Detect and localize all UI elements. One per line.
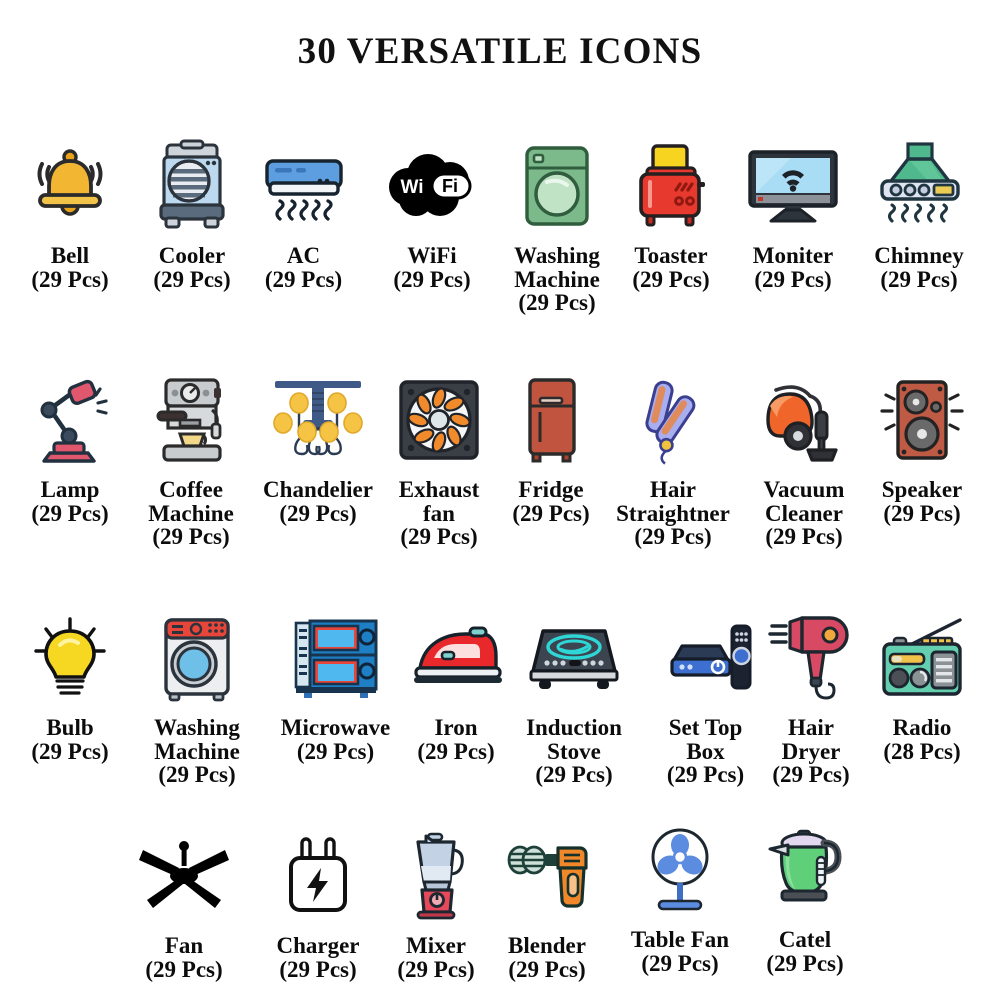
blender-icon — [504, 828, 590, 924]
icon-cell-speaker[interactable]: Speaker (29 Pcs) — [862, 372, 982, 525]
icon-cell-washing-machine-2[interactable]: Washing Machine (29 Pcs) — [135, 610, 259, 787]
icon-cell-iron[interactable]: Iron (29 Pcs) — [400, 610, 512, 763]
ceiling-fan-icon — [137, 828, 231, 924]
icon-count: (29 Pcs) — [535, 763, 612, 787]
icon-cell-radio[interactable]: Radio (28 Pcs) — [862, 610, 982, 763]
icon-count: (29 Pcs) — [393, 268, 470, 292]
icon-cell-set-top-box[interactable]: Set Top Box (29 Pcs) — [648, 610, 763, 787]
icon-label: Moniter — [753, 244, 833, 268]
coffee-machine-icon — [150, 372, 232, 468]
icon-count: (29 Pcs) — [634, 525, 711, 549]
icon-cell-hair-dryer[interactable]: Hair Dryer (29 Pcs) — [757, 610, 865, 787]
icon-count: (29 Pcs) — [754, 268, 831, 292]
icon-label: AC — [287, 244, 320, 268]
icon-cell-chandelier[interactable]: Chandelier (29 Pcs) — [249, 372, 387, 525]
svg-text:Fi: Fi — [442, 176, 458, 196]
icon-count: (29 Pcs) — [152, 525, 229, 549]
icon-label: Set Top Box — [669, 716, 743, 763]
icon-count: (29 Pcs) — [880, 268, 957, 292]
icon-count: (29 Pcs) — [512, 502, 589, 526]
icon-label: Lamp — [41, 478, 100, 502]
exhaust-fan-icon — [396, 372, 482, 468]
icon-label: Bell — [51, 244, 89, 268]
icon-count: (29 Pcs) — [145, 958, 222, 982]
icon-label: Bulb — [46, 716, 93, 740]
icon-count: (29 Pcs) — [772, 763, 849, 787]
monitor-icon — [745, 138, 841, 234]
icon-label: Exhaust fan — [399, 478, 480, 525]
icon-cell-lamp[interactable]: Lamp (29 Pcs) — [10, 372, 130, 525]
icon-count: (29 Pcs) — [641, 952, 718, 976]
icon-label: Microwave — [281, 716, 390, 740]
icon-label: Speaker — [882, 478, 963, 502]
chandelier-icon — [269, 372, 367, 468]
svg-text:Wi: Wi — [400, 177, 423, 198]
cooler-icon — [153, 138, 231, 234]
icon-cell-charger[interactable]: Charger (29 Pcs) — [258, 828, 378, 981]
icon-cell-coffee-machine[interactable]: Coffee Machine (29 Pcs) — [130, 372, 252, 549]
icon-label: Cooler — [159, 244, 225, 268]
icon-cell-bulb[interactable]: Bulb (29 Pcs) — [10, 610, 130, 763]
kettle-icon — [762, 822, 848, 918]
icon-label: Vacuum Cleaner — [764, 478, 845, 525]
icon-cell-cooler[interactable]: Cooler (29 Pcs) — [132, 138, 252, 291]
icon-label: Coffee Machine — [148, 478, 234, 525]
charger-icon — [283, 828, 353, 924]
icon-label: Mixer — [406, 934, 466, 958]
speaker-icon — [878, 372, 966, 468]
icon-cell-blender[interactable]: Blender (29 Pcs) — [488, 828, 606, 981]
icon-cell-exhaust-fan[interactable]: Exhaust fan (29 Pcs) — [383, 372, 495, 549]
washing-machine-white-icon — [156, 610, 238, 706]
icon-cell-microwave[interactable]: Microwave (29 Pcs) — [263, 610, 408, 763]
icon-cell-chimney[interactable]: Chimney (29 Pcs) — [857, 138, 981, 291]
icon-cell-fan[interactable]: Fan (29 Pcs) — [125, 828, 243, 981]
icon-cell-bell[interactable]: Bell (29 Pcs) — [10, 138, 130, 291]
icon-label: Toaster — [634, 244, 707, 268]
icon-count: (29 Pcs) — [765, 525, 842, 549]
icon-count: (29 Pcs) — [632, 268, 709, 292]
icon-cell-table-fan[interactable]: Table Fan (29 Pcs) — [614, 822, 746, 975]
desk-lamp-icon — [28, 372, 112, 468]
icon-label: Washing Machine — [514, 244, 600, 291]
fridge-icon — [522, 372, 580, 468]
icon-label: Washing Machine — [154, 716, 240, 763]
icon-count: (29 Pcs) — [397, 958, 474, 982]
icon-count: (29 Pcs) — [279, 502, 356, 526]
icon-cell-fridge[interactable]: Fridge (29 Pcs) — [497, 372, 605, 525]
icon-count: (29 Pcs) — [31, 268, 108, 292]
icon-count: (29 Pcs) — [297, 740, 374, 764]
icon-label: WiFi — [407, 244, 456, 268]
icon-count: (28 Pcs) — [883, 740, 960, 764]
icon-cell-moniter[interactable]: Moniter (29 Pcs) — [733, 138, 853, 291]
iron-icon — [410, 610, 502, 706]
icon-count: (29 Pcs) — [518, 291, 595, 315]
icon-cell-hair-straightner[interactable]: Hair Straightner (29 Pcs) — [598, 372, 748, 549]
icon-label: Induction Stove — [526, 716, 622, 763]
icon-cell-catel[interactable]: Catel (29 Pcs) — [748, 822, 862, 975]
icon-label: Chandelier — [263, 478, 373, 502]
icon-cell-toaster[interactable]: Toaster (29 Pcs) — [616, 138, 726, 291]
wifi-icon: Wi Fi — [384, 138, 480, 234]
icon-count: (29 Pcs) — [667, 763, 744, 787]
icon-label: Radio — [893, 716, 952, 740]
icon-label: Fan — [165, 934, 203, 958]
hair-straightener-icon — [627, 372, 719, 468]
icon-label: Iron — [434, 716, 477, 740]
icon-label: Table Fan — [631, 928, 729, 952]
icon-count: (29 Pcs) — [279, 958, 356, 982]
icon-count: (29 Pcs) — [766, 952, 843, 976]
vacuum-cleaner-icon — [758, 372, 850, 468]
icon-count: (29 Pcs) — [158, 763, 235, 787]
icon-label: Hair Dryer — [782, 716, 841, 763]
mixer-icon — [404, 828, 468, 924]
microwave-icon — [290, 610, 382, 706]
set-top-box-icon — [660, 610, 752, 706]
washing-machine-green-icon — [519, 138, 595, 234]
icon-grid: Bell (29 Pcs) Cooler (29 Pcs) — [0, 0, 1000, 1000]
icon-count: (29 Pcs) — [265, 268, 342, 292]
icon-cell-wifi[interactable]: Wi Fi WiFi (29 Pcs) — [374, 138, 490, 291]
icon-count: (29 Pcs) — [31, 502, 108, 526]
icon-label: Catel — [779, 928, 831, 952]
icon-cell-washing-machine-1[interactable]: Washing Machine (29 Pcs) — [497, 138, 617, 315]
icon-count: (29 Pcs) — [417, 740, 494, 764]
table-fan-icon — [642, 822, 718, 918]
icon-label: Chimney — [874, 244, 963, 268]
hair-dryer-icon — [768, 610, 854, 706]
icon-cell-induction-stove[interactable]: Induction Stove (29 Pcs) — [508, 610, 640, 787]
icon-count: (29 Pcs) — [883, 502, 960, 526]
icon-count: (29 Pcs) — [508, 958, 585, 982]
bell-icon — [26, 138, 114, 234]
bulb-icon — [30, 610, 110, 706]
icon-count: (29 Pcs) — [400, 525, 477, 549]
icon-label: Blender — [508, 934, 586, 958]
icon-label: Fridge — [518, 478, 583, 502]
induction-stove-icon — [527, 610, 621, 706]
icon-cell-mixer[interactable]: Mixer (29 Pcs) — [382, 828, 490, 981]
icon-count: (29 Pcs) — [153, 268, 230, 292]
icon-cell-vacuum-cleaner[interactable]: Vacuum Cleaner (29 Pcs) — [740, 372, 868, 549]
toaster-icon — [631, 138, 711, 234]
ac-icon — [258, 138, 350, 234]
radio-icon — [876, 610, 968, 706]
icon-cell-ac[interactable]: AC (29 Pcs) — [246, 138, 361, 291]
icon-label: Hair Straightner — [616, 478, 730, 525]
chimney-icon — [872, 138, 966, 234]
icon-label: Charger — [276, 934, 359, 958]
icon-count: (29 Pcs) — [31, 740, 108, 764]
